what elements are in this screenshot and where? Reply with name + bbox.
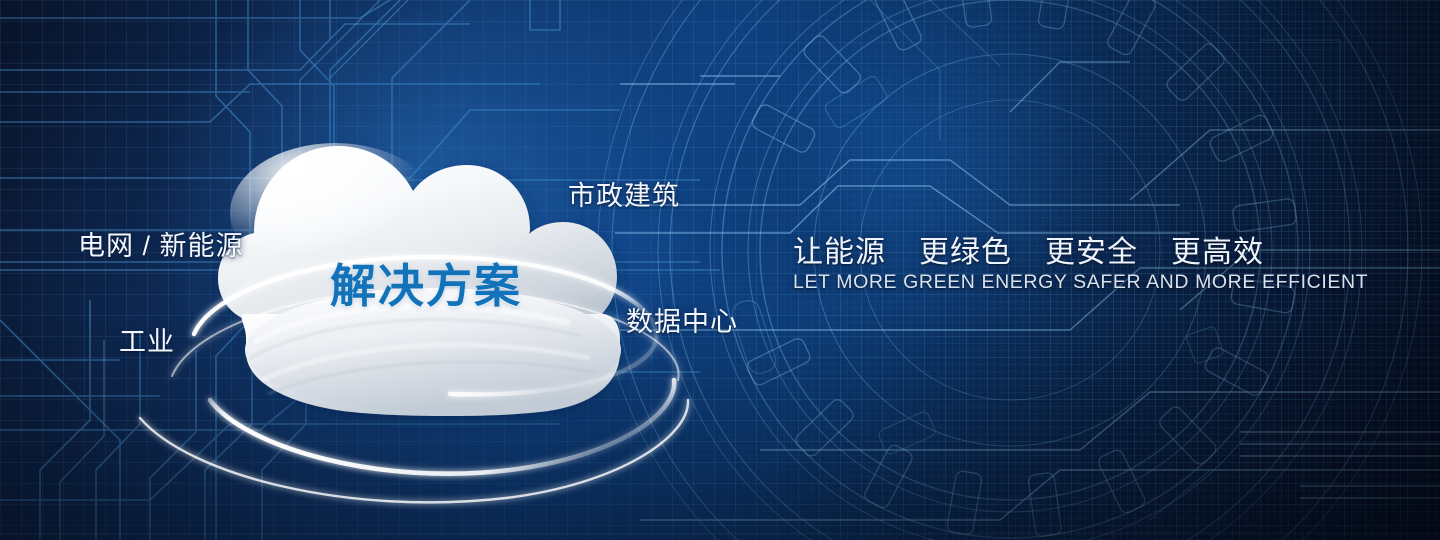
label-municipal-building: 市政建筑 [568, 174, 680, 213]
tagline-part-1: 让能源 [793, 227, 886, 271]
tagline-part-2: 更绿色 [919, 227, 1012, 271]
solution-title: 解决方案 [330, 250, 522, 316]
solution-banner: 电网 / 新能源 工业 市政建筑 数据中心 解决方案 让能源 更绿色 更安全 更… [0, 0, 1440, 540]
label-data-center: 数据中心 [626, 300, 738, 339]
tagline-english: LET MORE GREEN ENERGY SAFER AND MORE EFF… [793, 271, 1368, 294]
tagline-part-3: 更安全 [1045, 227, 1138, 271]
tagline-chinese: 让能源 更绿色 更安全 更高效 [793, 227, 1264, 271]
tagline-part-4: 更高效 [1171, 227, 1264, 271]
label-industry: 工业 [119, 320, 175, 359]
label-grid-new-energy: 电网 / 新能源 [78, 224, 244, 263]
